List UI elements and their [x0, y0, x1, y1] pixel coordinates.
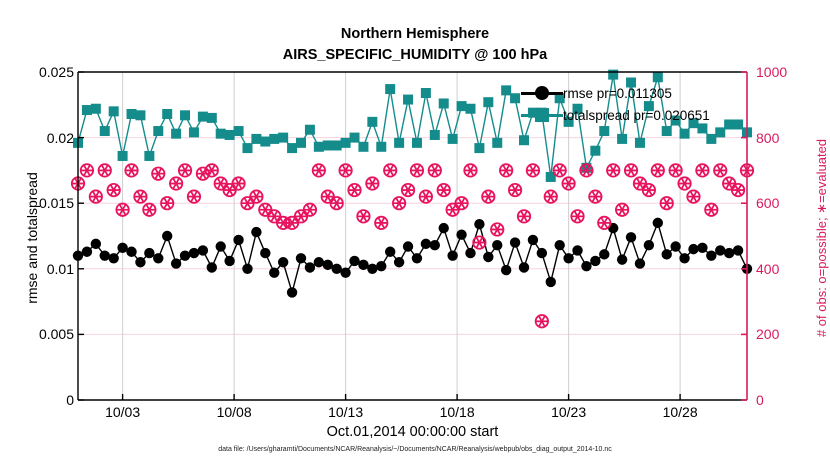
y-tick-right-4: 800 [756, 130, 830, 146]
legend-sample-totalspread [521, 104, 563, 126]
legend-item-totalspread: totalspread pr=0.020651 [521, 104, 743, 126]
y-tick-left-0: 0 [0, 392, 74, 408]
x-tick-2: 10/13 [328, 404, 363, 420]
x-tick-5: 10/28 [663, 404, 698, 420]
y-tick-left-2: 0.01 [0, 261, 74, 277]
y-tick-right-0: 0 [756, 392, 830, 408]
chart-legend: rmse pr=0.011305 totalspread pr=0.020651 [521, 82, 743, 126]
legend-label-totalspread: totalspread pr=0.020651 [563, 108, 710, 123]
x-tick-4: 10/23 [551, 404, 586, 420]
x-axis-label: Oct.01,2014 00:00:00 start [78, 424, 747, 440]
chart-figure: Northern Hemisphere AIRS_SPECIFIC_HUMIDI… [0, 0, 830, 470]
legend-item-rmse: rmse pr=0.011305 [521, 82, 743, 104]
x-tick-3: 10/18 [440, 404, 475, 420]
x-tick-0: 10/03 [105, 404, 140, 420]
y-tick-right-2: 400 [756, 261, 830, 277]
legend-sample-rmse [521, 82, 563, 104]
x-tick-1: 10/08 [217, 404, 252, 420]
plot-canvas [0, 0, 830, 470]
legend-label-rmse: rmse pr=0.011305 [563, 86, 672, 101]
black-circle-marker-icon [535, 86, 549, 100]
data-file-footer: data file: /Users/gharamti/Documents/NCA… [0, 446, 830, 453]
y-tick-left-5: 0.025 [0, 64, 74, 80]
y-tick-right-3: 600 [756, 195, 830, 211]
y-tick-left-1: 0.005 [0, 326, 74, 342]
teal-square-marker-icon [535, 108, 549, 122]
y-tick-right-1: 200 [756, 326, 830, 342]
y-tick-left-3: 0.015 [0, 195, 74, 211]
y-tick-right-5: 1000 [756, 64, 830, 80]
y-tick-left-4: 0.02 [0, 130, 74, 146]
